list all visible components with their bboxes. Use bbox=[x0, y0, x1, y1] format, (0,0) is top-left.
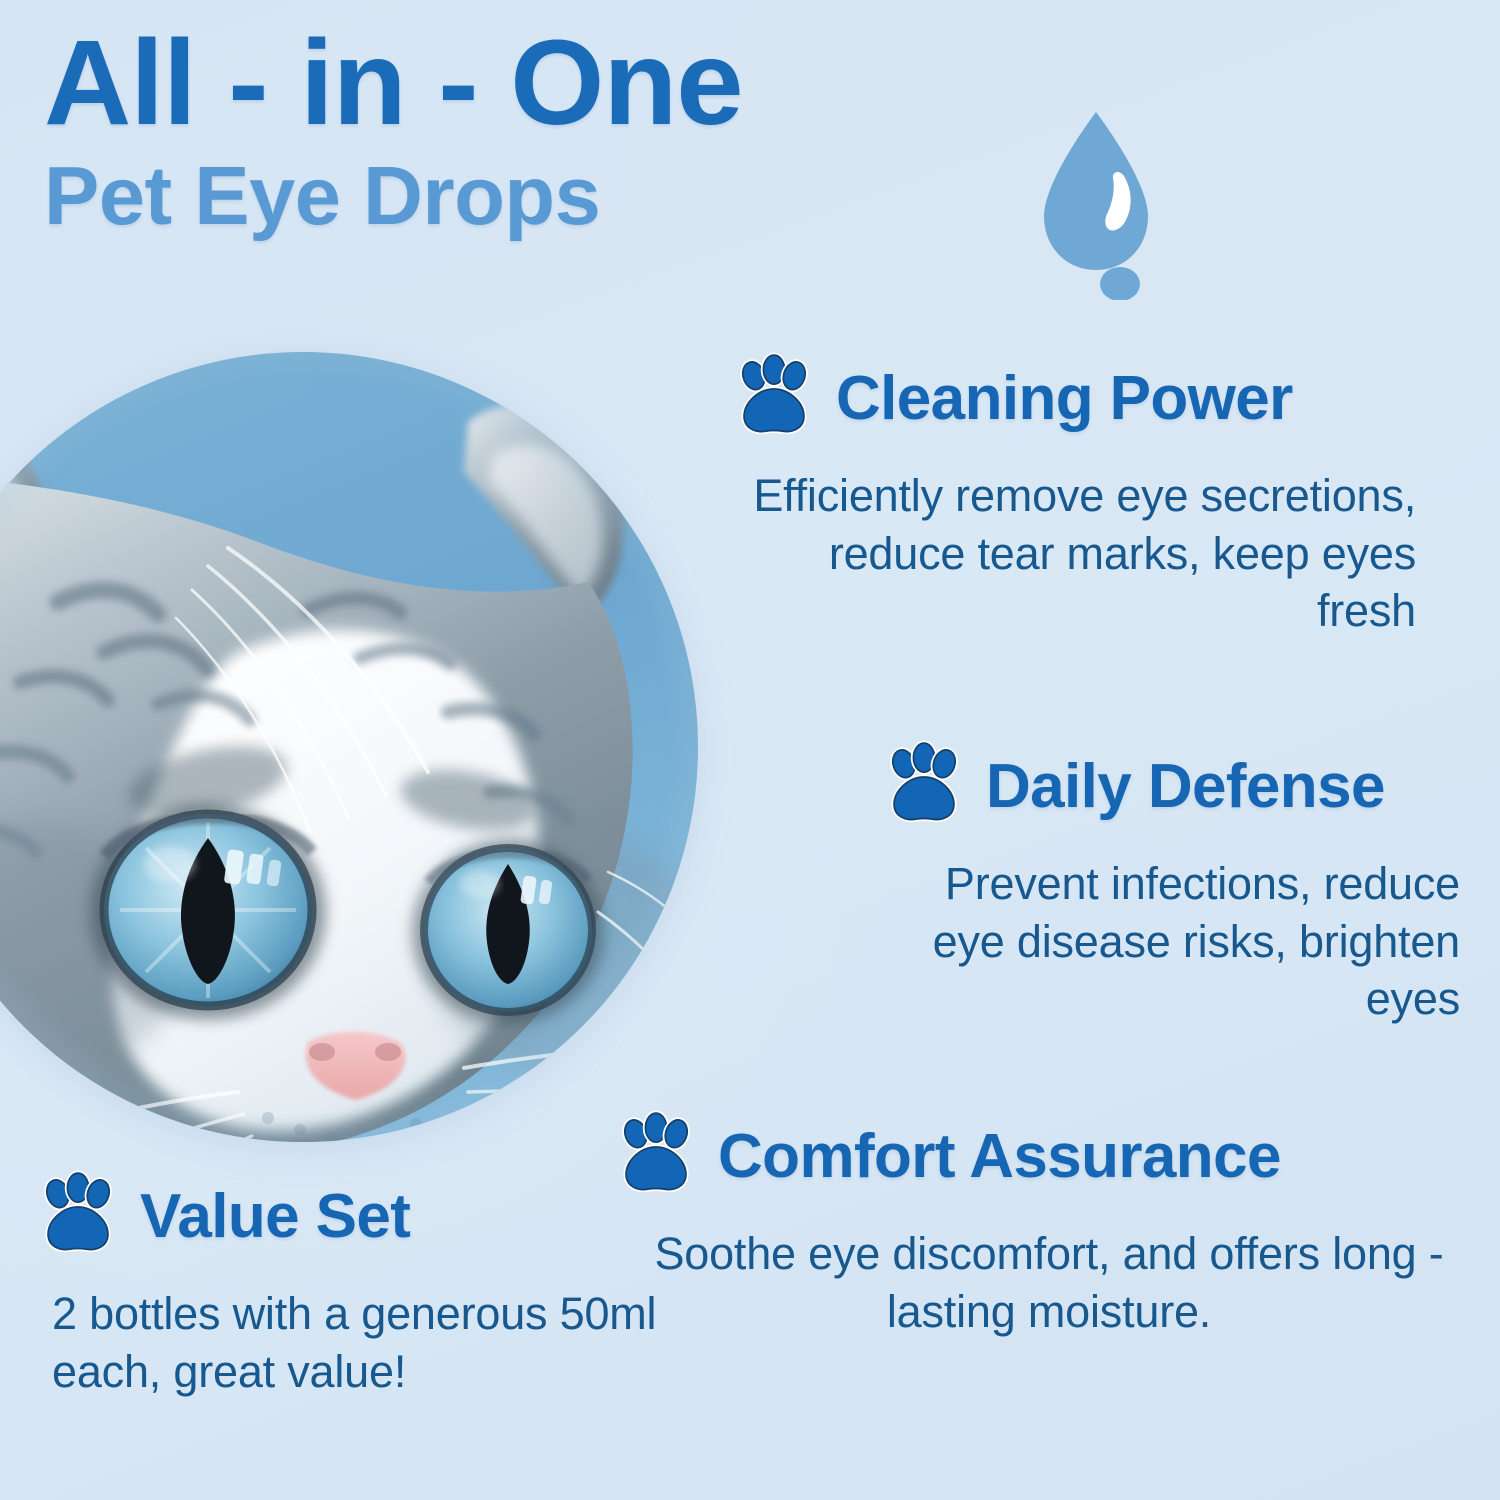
feature-title: Cleaning Power bbox=[836, 368, 1293, 430]
feature-title: Value Set bbox=[140, 1186, 410, 1248]
cat-right-eye bbox=[412, 840, 604, 1024]
feature-daily-defense: Daily Defense Prevent infections, reduce… bbox=[880, 740, 1492, 1028]
paw-print-icon bbox=[730, 352, 818, 445]
water-drop-icon bbox=[1034, 108, 1158, 300]
feature-title: Comfort Assurance bbox=[718, 1126, 1281, 1188]
feature-title: Daily Defense bbox=[986, 756, 1385, 818]
feature-header: Value Set bbox=[34, 1170, 674, 1263]
cat-photo-container bbox=[0, 352, 698, 1142]
feature-value-set: Value Set 2 bottles with a generous 50ml… bbox=[34, 1170, 674, 1400]
cat-left-eye bbox=[90, 804, 326, 1020]
feature-header: Cleaning Power bbox=[722, 352, 1492, 445]
feature-description: Efficiently remove eye secretions, reduc… bbox=[722, 467, 1492, 640]
cat-photo-oval bbox=[0, 352, 698, 1142]
product-infographic-poster: All - in - One Pet Eye Drops bbox=[0, 0, 1500, 1500]
feature-description: Soothe eye discomfort, and offers long -… bbox=[612, 1225, 1494, 1340]
feature-cleaning-power: Cleaning Power Efficiently remove eye se… bbox=[722, 352, 1492, 640]
feature-header: Comfort Assurance bbox=[612, 1110, 1494, 1203]
paw-print-icon bbox=[880, 740, 968, 833]
paw-print-icon bbox=[34, 1170, 122, 1263]
feature-description: 2 bottles with a generous 50ml each, gre… bbox=[34, 1285, 674, 1400]
cat-photo bbox=[0, 352, 698, 1142]
feature-header: Daily Defense bbox=[880, 740, 1492, 833]
page-title: All - in - One bbox=[44, 20, 1054, 146]
page-subtitle: Pet Eye Drops bbox=[44, 152, 1054, 239]
feature-comfort-assurance: Comfort Assurance Soothe eye discomfort,… bbox=[612, 1110, 1494, 1340]
feature-description: Prevent infections, reduce eye disease r… bbox=[880, 855, 1492, 1028]
headline-block: All - in - One Pet Eye Drops bbox=[44, 20, 1054, 239]
